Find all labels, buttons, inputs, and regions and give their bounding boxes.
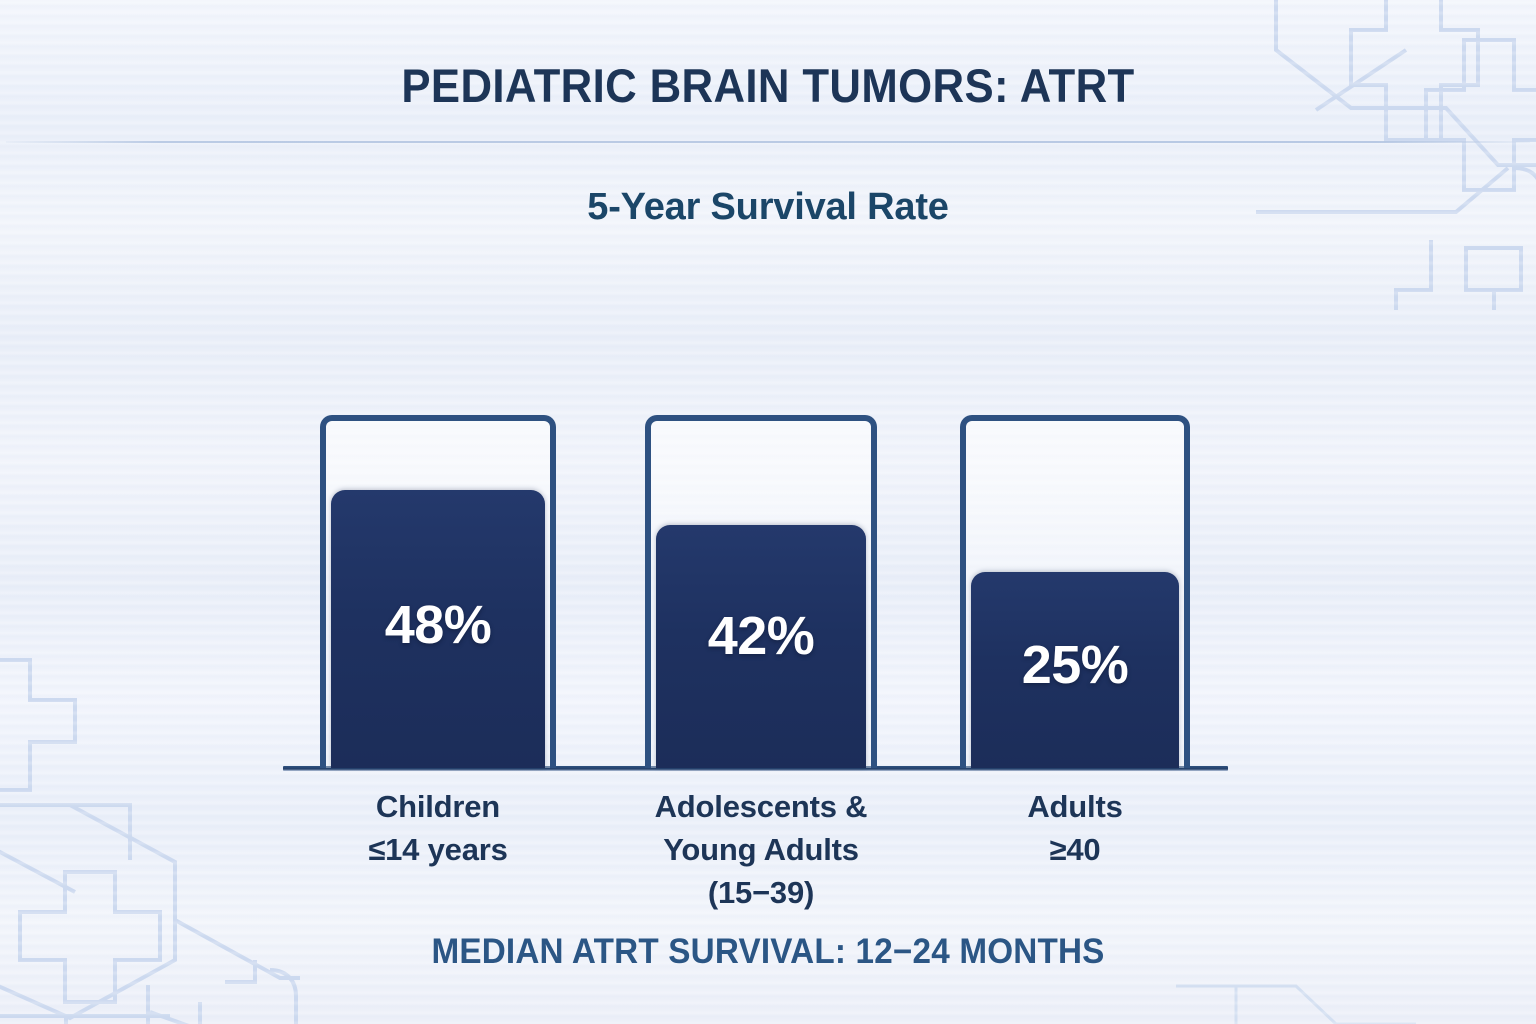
bar-chart: 48% 42% — [0, 0, 1536, 1024]
bar-value-children: 48% — [331, 594, 545, 656]
bar-value-young-adults: 42% — [656, 605, 866, 667]
bar-label-children-line-1: Children — [300, 786, 576, 829]
bar-label-young-adults-line-1: Adolescents & — [621, 786, 901, 829]
infographic-canvas: PEDIATRIC BRAIN TUMORS: ATRT 5-Year Surv… — [0, 0, 1536, 1024]
bar-fill-young-adults[interactable]: 42% — [656, 525, 866, 768]
bar-value-adults: 25% — [971, 634, 1179, 696]
bar-fill-children[interactable]: 48% — [331, 490, 545, 768]
bar-label-children-line-2: ≤14 years — [300, 829, 576, 872]
bar-label-young-adults-line-3: (15−39) — [621, 872, 901, 915]
bar-label-young-adults: Adolescents & Young Adults (15−39) — [621, 786, 901, 914]
bar-label-adults: Adults ≥40 — [935, 786, 1215, 872]
bar-fill-adults[interactable]: 25% — [971, 572, 1179, 768]
bar-label-young-adults-line-2: Young Adults — [621, 829, 901, 872]
median-survival-annotation: MEDIAN ATRT SURVIVAL: 12−24 MONTHS — [38, 932, 1497, 972]
bar-label-adults-line-1: Adults — [935, 786, 1215, 829]
bar-label-adults-line-2: ≥40 — [935, 829, 1215, 872]
bar-label-children: Children ≤14 years — [300, 786, 576, 872]
